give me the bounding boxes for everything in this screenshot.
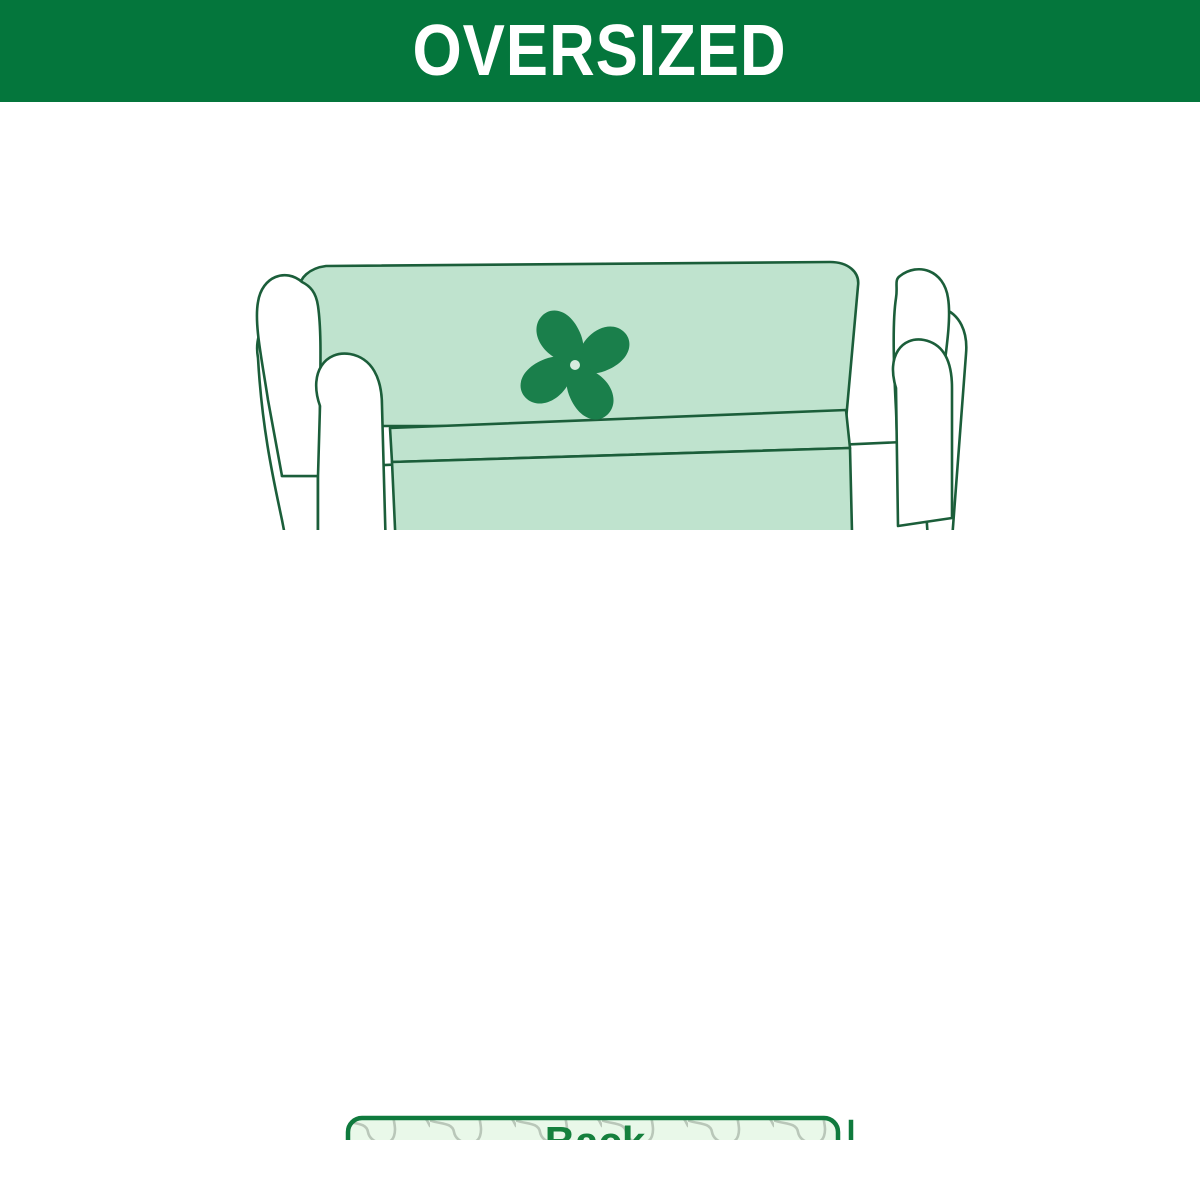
page-title: OVERSIZED [413,15,787,87]
region-label-back: Back [545,1118,646,1140]
flat-layout-diagram: Back Front Armrest Armrest OVERSIZED 40"… [0,540,1200,1140]
sofa-illustration [0,110,1200,530]
header-banner: OVERSIZED [0,0,1200,102]
dimension-back-height: 40" [851,1122,937,1140]
slipcover-seat-skirt [392,448,852,530]
pinwheel-fan-logo-icon [521,311,630,420]
